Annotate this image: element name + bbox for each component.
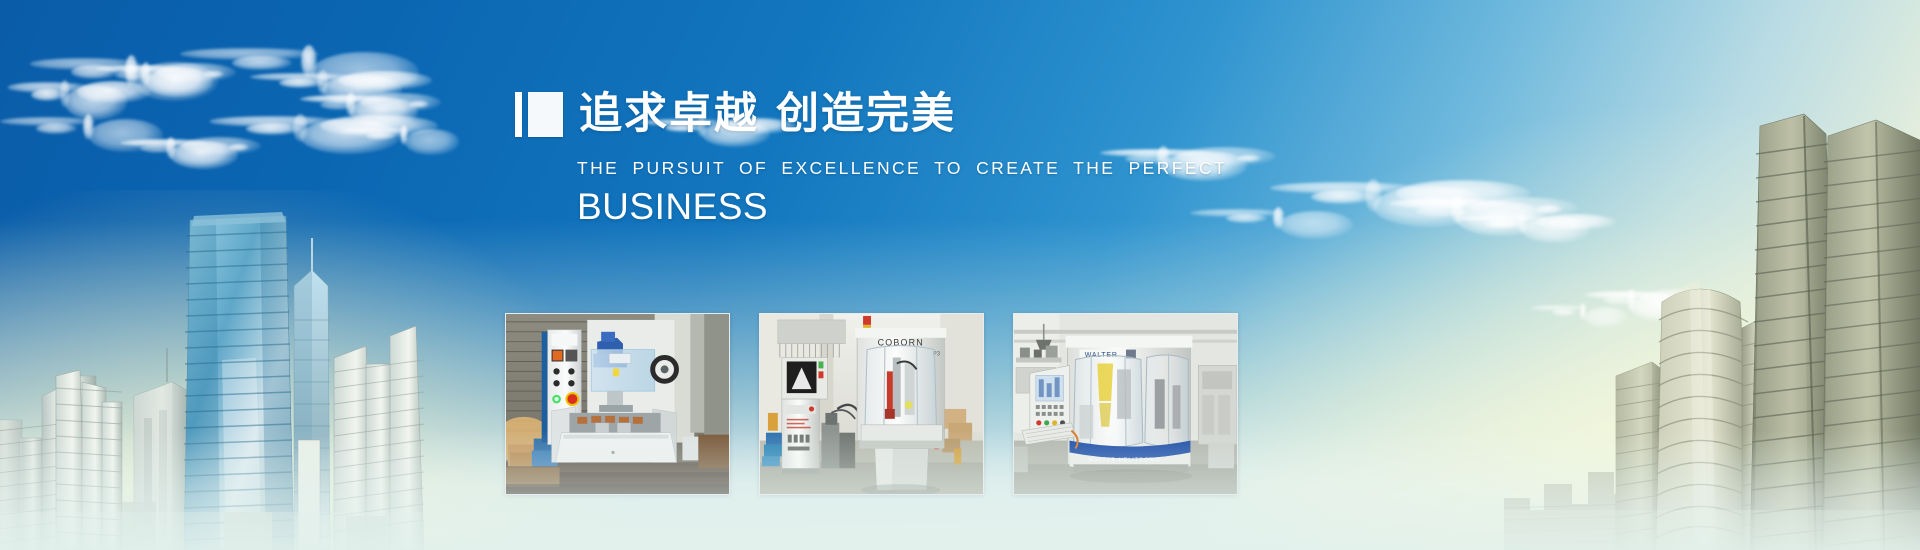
subtitle-english: THE PURSUIT OF EXCELLENCE TO CREATE THE … [577, 158, 1275, 179]
hero-banner: 追求卓越 创造完美 THE PURSUIT OF EXCELLENCE TO C… [0, 0, 1920, 550]
svg-text:WALTER HELITRONIC: WALTER HELITRONIC [1088, 457, 1161, 463]
headline-chinese: 追求卓越 创造完美 [579, 90, 956, 138]
headline-block: 追求卓越 创造完美 THE PURSUIT OF EXCELLENCE TO C… [515, 86, 1275, 228]
photo-coborn-rotary-grinder[interactable]: COBORN P3 [759, 313, 984, 495]
photo-strip: COBORN P3 [505, 313, 1238, 495]
photo-cnc-engraving-machine[interactable] [505, 313, 730, 495]
photo-walter-tool-grinder[interactable]: WALTER WALTER HELITR [1013, 313, 1238, 495]
business-word: BUSINESS [577, 186, 1275, 228]
bar-block-logo-icon [515, 92, 563, 137]
